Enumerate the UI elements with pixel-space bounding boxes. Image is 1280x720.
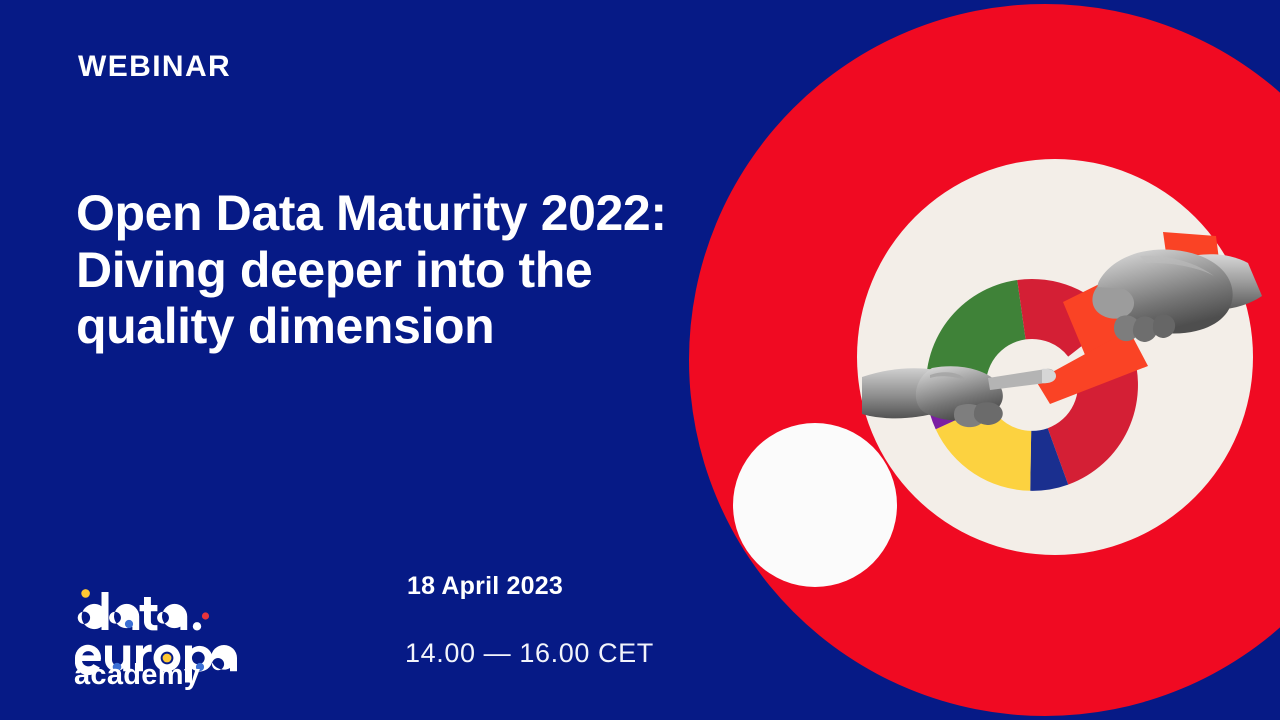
event-date: 18 April 2023 [407, 572, 563, 601]
logo-dot-red-1 [202, 612, 209, 619]
logo-dot-yellow-1 [81, 589, 90, 598]
webinar-poster: WEBINAR Open Data Maturity 2022: Diving … [0, 0, 1280, 720]
cream-circle [857, 159, 1253, 555]
event-time: 14.00 — 16.00 CET [405, 638, 654, 669]
logo-academy-label: academy [74, 659, 200, 692]
logo-dot-blue-1 [125, 620, 133, 628]
page-title: Open Data Maturity 2022: Diving deeper i… [76, 185, 676, 355]
eyebrow-label: WEBINAR [78, 50, 231, 83]
logo-period [193, 622, 201, 630]
white-dot [733, 423, 897, 587]
